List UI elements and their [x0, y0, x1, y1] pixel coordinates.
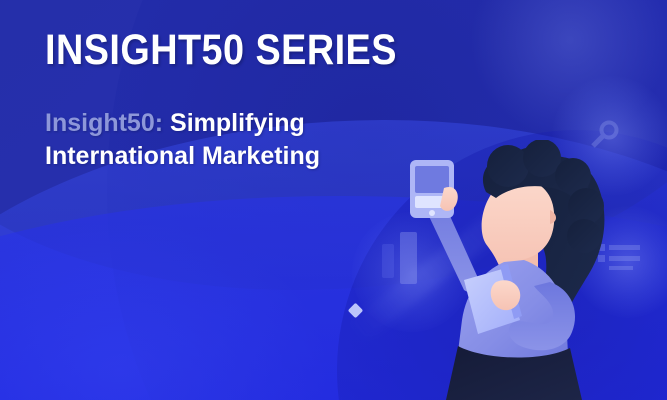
insight50-series-banner: INSIGHT50 SERIES Insight50: Simplifying …	[0, 0, 667, 400]
illustration-svg	[400, 140, 667, 400]
hair-curl-1	[487, 145, 529, 187]
wave-shape-bottom-left	[0, 220, 330, 400]
banner-text-block: INSIGHT50 SERIES Insight50: Simplifying …	[45, 28, 445, 173]
hair-curl-4	[568, 188, 604, 224]
page-title: INSIGHT50 SERIES	[45, 28, 397, 73]
woman-holding-tablet-illustration	[400, 140, 667, 400]
glow-top	[470, 0, 667, 140]
hair-curl-2	[523, 140, 561, 177]
subtitle: Insight50: Simplifying International Mar…	[45, 73, 405, 173]
subtitle-label: Insight50:	[45, 109, 163, 137]
diamond-icon	[348, 303, 364, 319]
hair-curl-5	[567, 219, 601, 253]
